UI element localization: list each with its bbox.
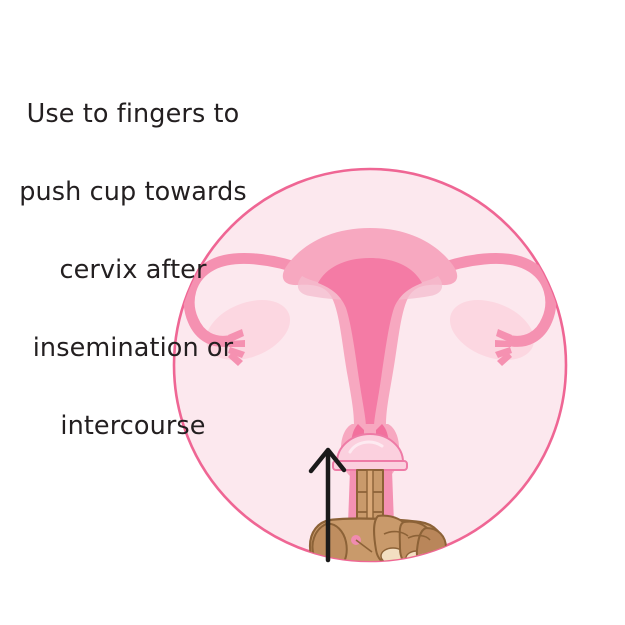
caption-line-1: Use to fingers to [4, 95, 262, 134]
caption-line-2: push cup towards [4, 173, 262, 212]
fingernail-little [424, 554, 442, 566]
cervical-cup-stem [367, 470, 373, 520]
caption-line-3: cervix after [4, 251, 262, 290]
caption-line-5: intercourse [4, 407, 262, 446]
instruction-graphic-page: Use to fingers to push cup towards cervi… [0, 0, 625, 625]
instruction-caption: Use to fingers to push cup towards cervi… [4, 56, 262, 485]
caption-line-4: insemination or [4, 329, 262, 368]
